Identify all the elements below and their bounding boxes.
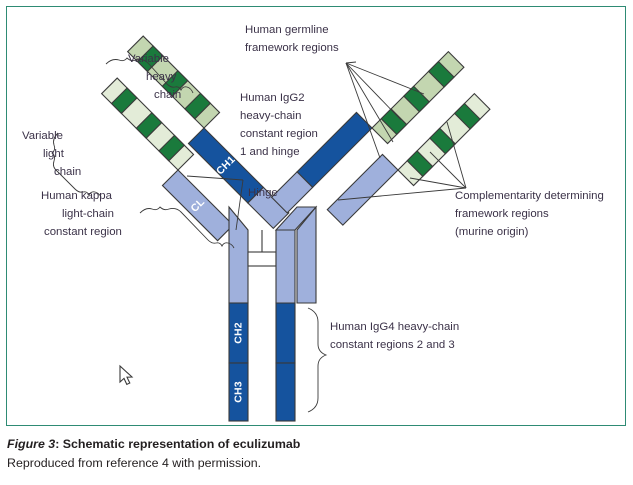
variable-heavy-line-2: heavy xyxy=(146,71,177,83)
ch3-label: CH3 xyxy=(233,381,245,403)
variable-light-line-1: Variable xyxy=(22,130,63,142)
left-cl-bar: CL xyxy=(162,170,233,241)
cursor-arrow-icon xyxy=(120,366,132,384)
brace-igg4-fc xyxy=(308,308,326,412)
variable-light-line-2: light xyxy=(43,148,65,160)
cdr-line-2: framework regions xyxy=(455,208,549,220)
germline-leader-3 xyxy=(346,63,401,120)
germline-leader-arrow xyxy=(346,62,356,63)
cdr-line-1: Complementarity determining xyxy=(455,190,604,202)
kappa-line-3: constant region xyxy=(44,226,122,238)
igg4-line-2: constant regions 2 and 3 xyxy=(330,339,455,351)
germline-leader-4 xyxy=(346,63,424,94)
igg4-line-1: Human IgG4 heavy-chain xyxy=(330,321,459,333)
right-ch3-block xyxy=(276,363,295,421)
cdr-line-3: (murine origin) xyxy=(455,226,529,238)
igg2-line-4: 1 and hinge xyxy=(240,146,300,158)
caption-title-text: : Schematic representation of eculizumab xyxy=(55,437,300,451)
hinge-label: Hinge xyxy=(248,187,278,199)
caption-figure-number: Figure 3 xyxy=(7,437,55,451)
left-stem-hinge-block xyxy=(229,207,248,303)
variable-light-line-3: chain xyxy=(54,166,81,178)
ch2-label: CH2 xyxy=(233,322,245,344)
germline-line-2: framework regions xyxy=(245,42,339,54)
variable-heavy-line-1: Variable xyxy=(128,53,169,65)
right-cl-bar xyxy=(327,154,398,225)
right-cl-block xyxy=(327,154,398,225)
figure-container: CH1 CL xyxy=(0,0,633,485)
igg2-line-1: Human IgG2 xyxy=(240,92,305,104)
caption-subtitle: Reproduced from reference 4 with permiss… xyxy=(7,455,617,473)
right-ch2-block xyxy=(276,303,295,363)
variable-heavy-line-3: chain xyxy=(154,89,181,101)
figure-caption: Figure 3: Schematic representation of ec… xyxy=(7,436,617,473)
kappa-line-1: Human kappa xyxy=(41,190,113,202)
right-stem-hinge-column xyxy=(276,230,295,303)
igg2-line-3: constant region xyxy=(240,128,318,140)
brace-variable-light xyxy=(52,133,101,197)
mouse-cursor xyxy=(120,366,132,384)
fc-stem-group: CH2 CH3 xyxy=(229,207,316,421)
igg2-line-2: heavy-chain xyxy=(240,110,301,122)
antibody-schematic-diagram: CH1 CL xyxy=(0,0,633,432)
germline-line-1: Human germline xyxy=(245,24,329,36)
kappa-line-2: light-chain xyxy=(62,208,114,220)
hinge-bridge xyxy=(248,252,276,266)
